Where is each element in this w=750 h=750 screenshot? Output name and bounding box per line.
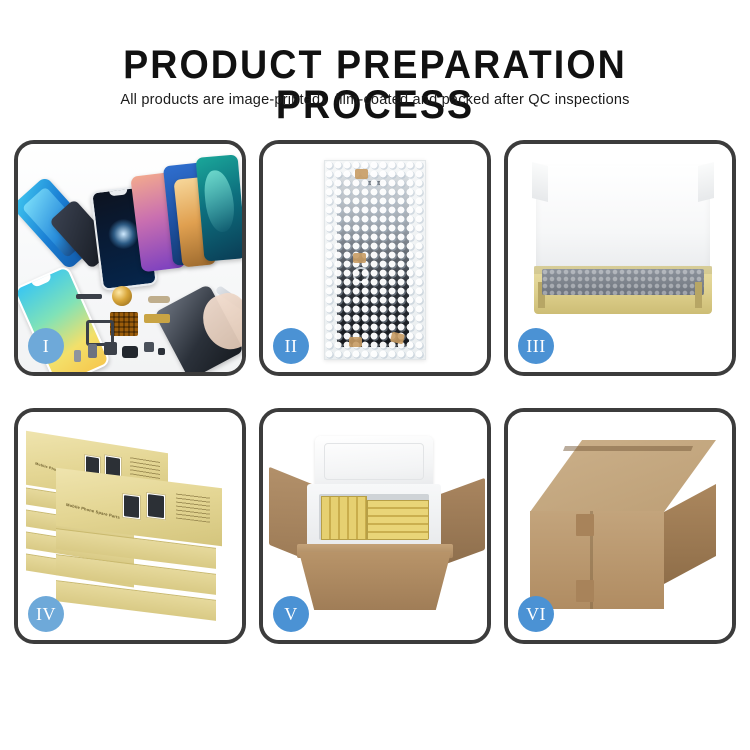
small-part-6-icon (74, 350, 81, 362)
foam-box-cavity-icon (319, 494, 429, 540)
step-badge-5: V (273, 596, 309, 632)
page-subtitle: All products are image-printed，film-coat… (11, 91, 739, 109)
page-title: PRODUCT PREPARATION PROCESS (23, 45, 728, 125)
carton-tab-lower-icon (576, 580, 594, 602)
yellow-boxes-vertical-icon (321, 496, 367, 540)
process-step-grid: I II (14, 140, 736, 690)
speaker-coil-part-icon (112, 286, 132, 306)
box-thumbnail-front-2 (146, 492, 166, 520)
carton-top-seam-icon (563, 446, 693, 451)
step-badge-4: IV (28, 596, 64, 632)
box-text-lines-front (176, 493, 210, 523)
chip-grid-part-icon (110, 312, 138, 336)
bubble-texture-icon (325, 161, 425, 359)
process-step-5[interactable]: V (259, 408, 491, 644)
tape-piece-1-icon (355, 169, 368, 179)
step-badge-3-label: III (526, 336, 545, 357)
step-badge-1: I (28, 328, 64, 364)
small-part-3-icon (122, 346, 138, 358)
gold-flex-cable-icon (144, 314, 170, 323)
white-foam-lid-icon (536, 164, 710, 274)
tape-piece-3-icon (349, 337, 362, 347)
step-badge-4-label: IV (36, 604, 56, 625)
process-step-6[interactable]: VI (504, 408, 736, 644)
sim-tray-part-icon (148, 296, 170, 303)
small-part-5-icon (158, 348, 165, 355)
box-thumbnail-front-1 (122, 493, 141, 520)
small-part-4-icon (144, 342, 154, 352)
grey-foam-insert-icon (542, 269, 704, 295)
step-badge-2: II (273, 328, 309, 364)
carton-body-icon (299, 552, 451, 610)
step-badge-6: VI (518, 596, 554, 632)
process-step-1[interactable]: I (14, 140, 246, 376)
step-badge-3: III (518, 328, 554, 364)
teal-phone-icon (196, 154, 242, 261)
process-step-2[interactable]: II (259, 140, 491, 376)
tape-piece-2-icon (353, 253, 366, 263)
small-part-1-icon (88, 344, 97, 358)
step-badge-5-label: V (284, 604, 298, 625)
step-badge-6-label: VI (526, 604, 546, 625)
product-preparation-infographic: PRODUCT PREPARATION PROCESS All products… (0, 0, 750, 750)
bubble-wrap-bag-icon (324, 160, 426, 360)
antenna-bar-part-icon (76, 294, 102, 299)
carton-tab-upper-icon (576, 514, 594, 536)
process-step-4[interactable]: Mobile Phone Spare Parts Mobile Phone Sp… (14, 408, 246, 644)
box-corner-notch-icon (695, 282, 702, 308)
carton-front-face-icon (530, 511, 664, 609)
process-step-3[interactable]: III (504, 140, 736, 376)
yellow-boxes-horizontal-icon (367, 500, 429, 540)
step-badge-2-label: II (285, 336, 298, 357)
small-part-2-icon (104, 342, 117, 355)
step-badge-1-label: I (43, 336, 50, 357)
